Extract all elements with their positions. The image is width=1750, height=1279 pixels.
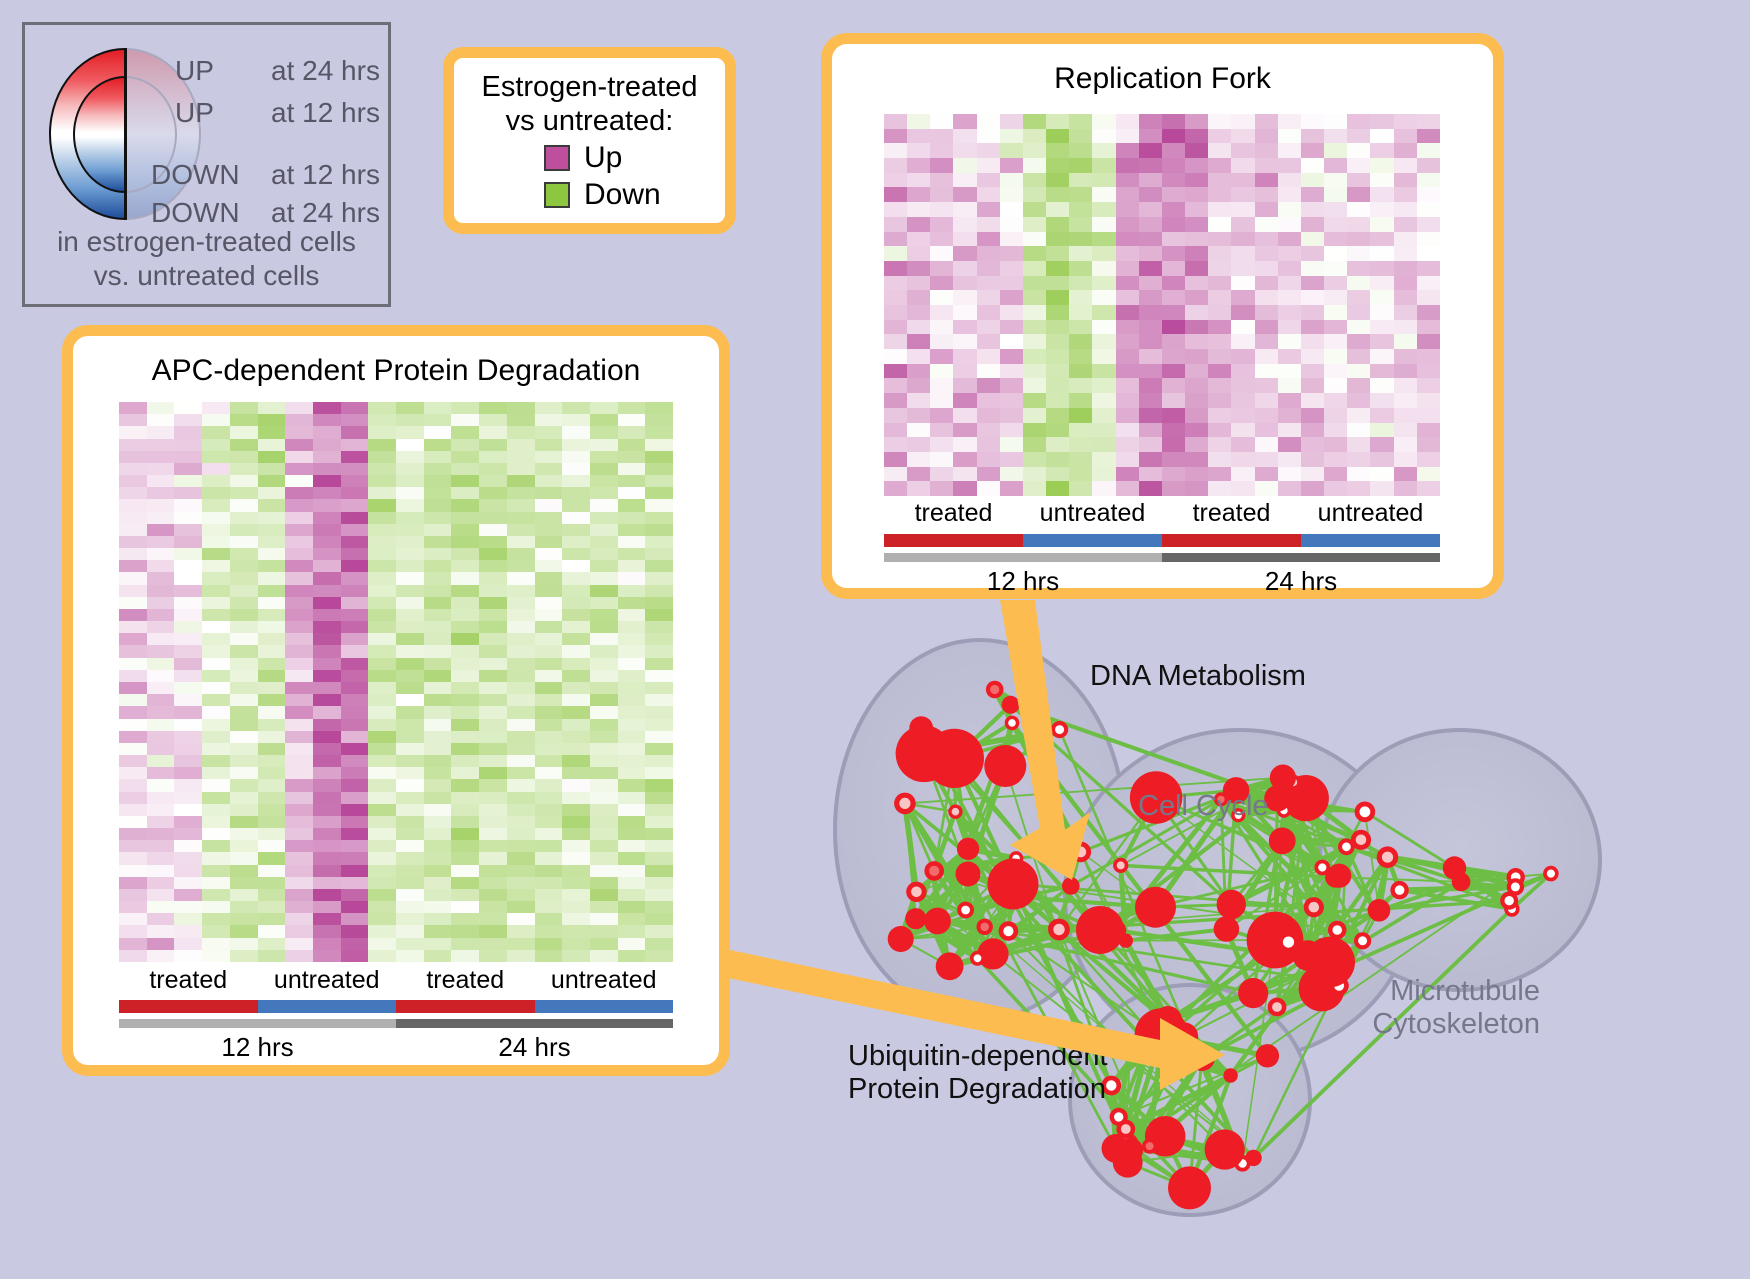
heatmap-cell bbox=[202, 548, 230, 560]
heatmap-cell bbox=[1208, 437, 1231, 452]
heatmap-cell bbox=[313, 816, 341, 828]
heatmap-cell bbox=[977, 378, 1000, 393]
heatmap-cell bbox=[368, 755, 396, 767]
heatmap-cell bbox=[507, 512, 535, 524]
heatmap-cell bbox=[341, 877, 369, 889]
heatmap-cell bbox=[1301, 334, 1324, 349]
heatmap-cell bbox=[230, 560, 258, 572]
heatmap-cell bbox=[1000, 202, 1023, 217]
heatmap-cell bbox=[368, 621, 396, 633]
heatmap-cell bbox=[313, 633, 341, 645]
heatmap-cell bbox=[1231, 173, 1254, 188]
heatmap-cell bbox=[479, 633, 507, 645]
network-node-core bbox=[952, 808, 960, 816]
heatmap-cell bbox=[1046, 114, 1069, 129]
heatmap-cell bbox=[202, 779, 230, 791]
heatmap-cell bbox=[119, 451, 147, 463]
heatmap-cell bbox=[230, 925, 258, 937]
heatmap-cell bbox=[341, 426, 369, 438]
heatmap-cell bbox=[174, 938, 202, 950]
heatmap-cell bbox=[258, 621, 286, 633]
heatmap-cell bbox=[1069, 158, 1092, 173]
heatmap-cell bbox=[1278, 349, 1301, 364]
heatmap-cell bbox=[1347, 143, 1370, 158]
heatmap-cell bbox=[230, 877, 258, 889]
heatmap-cell bbox=[341, 621, 369, 633]
heatmap-cell bbox=[1255, 143, 1278, 158]
heatmap-cell bbox=[1162, 305, 1185, 320]
heatmap-cell bbox=[119, 779, 147, 791]
heatmap-cell bbox=[1370, 187, 1393, 202]
heatmap-cell bbox=[341, 499, 369, 511]
heatmap-cell bbox=[1370, 143, 1393, 158]
heatmap-cell bbox=[930, 378, 953, 393]
heatmap-cell bbox=[174, 439, 202, 451]
heatmap-cell bbox=[884, 217, 907, 232]
heatmap-cell bbox=[119, 865, 147, 877]
heatmap-cell bbox=[1069, 378, 1092, 393]
heatmap-cell bbox=[1185, 349, 1208, 364]
cluster-label-ubiquitin: Ubiquitin-dependent Protein Degradation bbox=[848, 1040, 1108, 1107]
replication-fork-condition-labels: treateduntreatedtreateduntreated bbox=[884, 499, 1440, 528]
heatmap-cell bbox=[590, 950, 618, 962]
heatmap-cell bbox=[645, 694, 673, 706]
heatmap-cell bbox=[202, 913, 230, 925]
heatmap-cell bbox=[424, 950, 452, 962]
heatmap-cell bbox=[535, 706, 563, 718]
heatmap-cell bbox=[1139, 158, 1162, 173]
heatmap-cell bbox=[285, 402, 313, 414]
heatmap-cell bbox=[618, 913, 646, 925]
heatmap-cell bbox=[119, 731, 147, 743]
heatmap-cell bbox=[1023, 217, 1046, 232]
heatmap-cell bbox=[258, 865, 286, 877]
heatmap-cell bbox=[313, 609, 341, 621]
heatmap-cell bbox=[147, 463, 175, 475]
heatmap-cell bbox=[230, 840, 258, 852]
heatmap-cell bbox=[562, 451, 590, 463]
heatmap-cell bbox=[396, 451, 424, 463]
heatmap-cell bbox=[451, 950, 479, 962]
heatmap-cell bbox=[1116, 305, 1139, 320]
heatmap-cell bbox=[451, 524, 479, 536]
heatmap-cell bbox=[1116, 481, 1139, 496]
heatmap-cell bbox=[424, 719, 452, 731]
condition-label-0: treated bbox=[119, 966, 258, 995]
heatmap-cell bbox=[1069, 276, 1092, 291]
heatmap-cell bbox=[1116, 232, 1139, 247]
network-node-core bbox=[1272, 1002, 1282, 1012]
heatmap-cell bbox=[1278, 246, 1301, 261]
heatmap-cell bbox=[1347, 481, 1370, 496]
heatmap-cell bbox=[907, 246, 930, 261]
heatmap-cell bbox=[953, 334, 976, 349]
heatmap-cell bbox=[1231, 423, 1254, 438]
heatmap-cell bbox=[562, 877, 590, 889]
heatmap-cell bbox=[590, 938, 618, 950]
heatmap-cell bbox=[313, 767, 341, 779]
heatmap-cell bbox=[1069, 217, 1092, 232]
heatmap-cell bbox=[396, 475, 424, 487]
heatmap-cell bbox=[953, 114, 976, 129]
heatmap-cell bbox=[1417, 290, 1440, 305]
heatmap-cell bbox=[285, 426, 313, 438]
heatmap-cell bbox=[953, 143, 976, 158]
heatmap-cell bbox=[645, 938, 673, 950]
heatmap-cell bbox=[618, 402, 646, 414]
heatmap-cell bbox=[424, 585, 452, 597]
heatmap-cell bbox=[907, 305, 930, 320]
heatmap-cell bbox=[645, 560, 673, 572]
heatmap-cell bbox=[396, 682, 424, 694]
heatmap-cell bbox=[1000, 452, 1023, 467]
heatmap-cell bbox=[535, 743, 563, 755]
heatmap-cell bbox=[1208, 158, 1231, 173]
heatmap-cell bbox=[1023, 349, 1046, 364]
heatmap-cell bbox=[1092, 261, 1115, 276]
heatmap-cell bbox=[1092, 378, 1115, 393]
heatmap-cell bbox=[1000, 423, 1023, 438]
heatmap-cell bbox=[1278, 423, 1301, 438]
heatmap-cell bbox=[147, 706, 175, 718]
heatmap-cell bbox=[1231, 261, 1254, 276]
heatmap-cell bbox=[1255, 437, 1278, 452]
heatmap-cell bbox=[1394, 173, 1417, 188]
heatmap-cell bbox=[479, 925, 507, 937]
heatmap-cell bbox=[1255, 129, 1278, 144]
heatmap-cell bbox=[1301, 173, 1324, 188]
heatmap-cell bbox=[507, 439, 535, 451]
legend-item-down: Down bbox=[544, 178, 725, 212]
heatmap-cell bbox=[230, 499, 258, 511]
network-node bbox=[1217, 890, 1246, 919]
heatmap-cell bbox=[1394, 202, 1417, 217]
heatmap-cell bbox=[202, 694, 230, 706]
heatmap-cell bbox=[258, 414, 286, 426]
heatmap-cell bbox=[590, 852, 618, 864]
heatmap-cell bbox=[230, 706, 258, 718]
heatmap-cell bbox=[479, 451, 507, 463]
heatmap-cell bbox=[285, 828, 313, 840]
heatmap-cell bbox=[147, 487, 175, 499]
heatmap-cell bbox=[1370, 129, 1393, 144]
heatmap-cell bbox=[424, 439, 452, 451]
heatmap-cell bbox=[1208, 246, 1231, 261]
heatmap-cell bbox=[884, 393, 907, 408]
heatmap-cell bbox=[119, 682, 147, 694]
heatmap-cell bbox=[230, 792, 258, 804]
heatmap-cell bbox=[1278, 173, 1301, 188]
heatmap-cell bbox=[313, 499, 341, 511]
heatmap-cell bbox=[230, 451, 258, 463]
heatmap-cell bbox=[1301, 114, 1324, 129]
heatmap-cell bbox=[1139, 276, 1162, 291]
heatmap-cell bbox=[424, 938, 452, 950]
heatmap-cell bbox=[341, 439, 369, 451]
heatmap-cell bbox=[1255, 217, 1278, 232]
heatmap-cell bbox=[953, 129, 976, 144]
heatmap-cell bbox=[147, 536, 175, 548]
heatmap-cell bbox=[230, 755, 258, 767]
heatmap-cell bbox=[645, 536, 673, 548]
heatmap-cell bbox=[396, 706, 424, 718]
heatmap-cell bbox=[507, 402, 535, 414]
heatmap-cell bbox=[1023, 158, 1046, 173]
heatmap-cell bbox=[590, 439, 618, 451]
network-node-core bbox=[1505, 896, 1514, 905]
heatmap-cell bbox=[590, 816, 618, 828]
heatmap-cell bbox=[562, 792, 590, 804]
heatmap-cell bbox=[1092, 437, 1115, 452]
legend-when-up-24: at 24 hrs bbox=[271, 55, 380, 87]
heatmap-cell bbox=[645, 877, 673, 889]
heatmap-cell bbox=[147, 694, 175, 706]
heatmap-cell bbox=[174, 536, 202, 548]
heatmap-cell bbox=[930, 393, 953, 408]
heatmap-cell bbox=[1185, 452, 1208, 467]
heatmap-cell bbox=[1000, 187, 1023, 202]
heatmap-cell bbox=[1000, 261, 1023, 276]
heatmap-cell bbox=[119, 597, 147, 609]
heatmap-cell bbox=[562, 743, 590, 755]
heatmap-cell bbox=[313, 682, 341, 694]
heatmap-cell bbox=[1116, 349, 1139, 364]
heatmap-cell bbox=[507, 658, 535, 670]
heatmap-cell bbox=[618, 901, 646, 913]
heatmap-cell bbox=[1278, 187, 1301, 202]
down-swatch-icon bbox=[544, 182, 570, 208]
heatmap-cell bbox=[147, 621, 175, 633]
heatmap-cell bbox=[1092, 423, 1115, 438]
heatmap-cell bbox=[424, 877, 452, 889]
heatmap-cell bbox=[1231, 217, 1254, 232]
heatmap-cell bbox=[424, 682, 452, 694]
heatmap-cell bbox=[1208, 129, 1231, 144]
heatmap-cell bbox=[1139, 187, 1162, 202]
heatmap-cell bbox=[1069, 143, 1092, 158]
heatmap-cell bbox=[1255, 305, 1278, 320]
heatmap-cell bbox=[285, 645, 313, 657]
heatmap-cell bbox=[930, 481, 953, 496]
heatmap-cell bbox=[977, 143, 1000, 158]
heatmap-cell bbox=[479, 426, 507, 438]
heatmap-cell bbox=[1370, 467, 1393, 482]
heatmap-cell bbox=[1324, 276, 1347, 291]
heatmap-cell bbox=[451, 487, 479, 499]
heatmap-cell bbox=[424, 816, 452, 828]
network-node bbox=[1062, 877, 1080, 895]
heatmap-cell bbox=[1231, 129, 1254, 144]
time-label-1: 24 hrs bbox=[396, 1032, 673, 1063]
heatmap-cell bbox=[1301, 481, 1324, 496]
heatmap-cell bbox=[1347, 187, 1370, 202]
pathway-network-graph: DNA Metabolism Cell Cycle Microtubule Cy… bbox=[770, 600, 1750, 1279]
heatmap-cell bbox=[1023, 143, 1046, 158]
heatmap-cell bbox=[1208, 276, 1231, 291]
heatmap-cell bbox=[451, 706, 479, 718]
heatmap-cell bbox=[147, 414, 175, 426]
heatmap-cell bbox=[202, 463, 230, 475]
heatmap-cell bbox=[1023, 437, 1046, 452]
heatmap-cell bbox=[258, 475, 286, 487]
heatmap-cell bbox=[396, 597, 424, 609]
heatmap-cell bbox=[1046, 232, 1069, 247]
heatmap-cell bbox=[1208, 467, 1231, 482]
heatmap-cell bbox=[535, 597, 563, 609]
heatmap-cell bbox=[1301, 187, 1324, 202]
heatmap-cell bbox=[368, 597, 396, 609]
heatmap-cell bbox=[313, 828, 341, 840]
heatmap-cell bbox=[1139, 232, 1162, 247]
heatmap-cell bbox=[1162, 158, 1185, 173]
network-node-core bbox=[899, 798, 910, 809]
heatmap-cell bbox=[930, 261, 953, 276]
heatmap-cell bbox=[645, 925, 673, 937]
heatmap-cell bbox=[1162, 437, 1185, 452]
heatmap-cell bbox=[1394, 378, 1417, 393]
heatmap-cell bbox=[341, 512, 369, 524]
heatmap-cell bbox=[341, 536, 369, 548]
heatmap-cell bbox=[1023, 261, 1046, 276]
heatmap-cell bbox=[368, 901, 396, 913]
heatmap-cell bbox=[174, 719, 202, 731]
heatmap-cell bbox=[884, 187, 907, 202]
network-node bbox=[1076, 906, 1124, 954]
heatmap-cell bbox=[1417, 187, 1440, 202]
heatmap-cell bbox=[396, 779, 424, 791]
heatmap-cell bbox=[1347, 202, 1370, 217]
heatmap-cell bbox=[562, 852, 590, 864]
heatmap-cell bbox=[285, 633, 313, 645]
heatmap-cell bbox=[1046, 393, 1069, 408]
heatmap-cell bbox=[424, 767, 452, 779]
heatmap-cell bbox=[313, 719, 341, 731]
heatmap-cell bbox=[424, 779, 452, 791]
heatmap-cell bbox=[645, 499, 673, 511]
heatmap-cell bbox=[1370, 349, 1393, 364]
heatmap-cell bbox=[147, 719, 175, 731]
heatmap-cell bbox=[230, 767, 258, 779]
heatmap-cell bbox=[202, 487, 230, 499]
heatmap-cell bbox=[590, 633, 618, 645]
heatmap-cell bbox=[1394, 423, 1417, 438]
heatmap-cell bbox=[1000, 393, 1023, 408]
heatmap-cell bbox=[119, 938, 147, 950]
heatmap-cell bbox=[174, 950, 202, 962]
condition-bar-1 bbox=[258, 1000, 397, 1013]
heatmap-cell bbox=[1301, 349, 1324, 364]
heatmap-cell bbox=[230, 719, 258, 731]
heatmap-cell bbox=[930, 334, 953, 349]
heatmap-cell bbox=[535, 828, 563, 840]
heatmap-cell bbox=[907, 452, 930, 467]
heatmap-cell bbox=[1023, 408, 1046, 423]
network-node-core bbox=[1053, 924, 1064, 935]
heatmap-cell bbox=[535, 439, 563, 451]
network-node bbox=[1238, 978, 1268, 1008]
heatmap-cell bbox=[147, 889, 175, 901]
legend-key-up-24: UP bbox=[175, 55, 214, 87]
heatmap-cell bbox=[1069, 423, 1092, 438]
heatmap-cell bbox=[424, 499, 452, 511]
heatmap-cell bbox=[230, 633, 258, 645]
heatmap-cell bbox=[590, 682, 618, 694]
heatmap-cell bbox=[1278, 481, 1301, 496]
heatmap-cell bbox=[258, 439, 286, 451]
heatmap-cell bbox=[1394, 158, 1417, 173]
heatmap-cell bbox=[535, 877, 563, 889]
heatmap-cell bbox=[202, 852, 230, 864]
heatmap-cell bbox=[1185, 261, 1208, 276]
heatmap-cell bbox=[535, 925, 563, 937]
heatmap-cell bbox=[535, 524, 563, 536]
heatmap-cell bbox=[507, 426, 535, 438]
heatmap-cell bbox=[479, 840, 507, 852]
heatmap-cell bbox=[535, 402, 563, 414]
heatmap-cell bbox=[507, 682, 535, 694]
heatmap-cell bbox=[930, 305, 953, 320]
heatmap-cell bbox=[645, 621, 673, 633]
heatmap-cell bbox=[202, 816, 230, 828]
heatmap-cell bbox=[285, 621, 313, 633]
down-label: Down bbox=[584, 178, 661, 212]
heatmap-cell bbox=[1278, 334, 1301, 349]
heatmap-cell bbox=[230, 743, 258, 755]
heatmap-cell bbox=[451, 877, 479, 889]
heatmap-cell bbox=[562, 865, 590, 877]
heatmap-cell bbox=[1417, 202, 1440, 217]
heatmap-cell bbox=[202, 585, 230, 597]
heatmap-cell bbox=[645, 706, 673, 718]
heatmap-cell bbox=[285, 658, 313, 670]
heatmap-cell bbox=[147, 670, 175, 682]
heatmap-cell bbox=[1116, 246, 1139, 261]
heatmap-cell bbox=[618, 658, 646, 670]
heatmap-cell bbox=[451, 585, 479, 597]
heatmap-cell bbox=[562, 925, 590, 937]
heatmap-cell bbox=[258, 706, 286, 718]
heatmap-cell bbox=[562, 950, 590, 962]
heatmap-cell bbox=[451, 572, 479, 584]
up-down-title-line2: vs untreated: bbox=[454, 104, 725, 138]
heatmap-cell bbox=[1324, 393, 1347, 408]
heatmap-cell bbox=[119, 414, 147, 426]
heatmap-cell bbox=[285, 755, 313, 767]
heatmap-cell bbox=[451, 755, 479, 767]
heatmap-cell bbox=[1185, 320, 1208, 335]
heatmap-cell bbox=[341, 597, 369, 609]
heatmap-cell bbox=[479, 889, 507, 901]
heatmap-cell bbox=[884, 378, 907, 393]
heatmap-cell bbox=[174, 792, 202, 804]
heatmap-cell bbox=[535, 621, 563, 633]
heatmap-cell bbox=[1208, 364, 1231, 379]
heatmap-cell bbox=[368, 804, 396, 816]
heatmap-cell bbox=[884, 437, 907, 452]
heatmap-cell bbox=[147, 779, 175, 791]
heatmap-cell bbox=[258, 694, 286, 706]
heatmap-cell bbox=[1185, 290, 1208, 305]
heatmap-cell bbox=[1370, 364, 1393, 379]
heatmap-cell bbox=[174, 451, 202, 463]
heatmap-cell bbox=[618, 828, 646, 840]
heatmap-cell bbox=[1162, 232, 1185, 247]
heatmap-cell bbox=[562, 463, 590, 475]
condition-bar-1 bbox=[1023, 534, 1162, 547]
heatmap-cell bbox=[451, 609, 479, 621]
condition-label-3: untreated bbox=[535, 966, 674, 995]
heatmap-cell bbox=[341, 731, 369, 743]
